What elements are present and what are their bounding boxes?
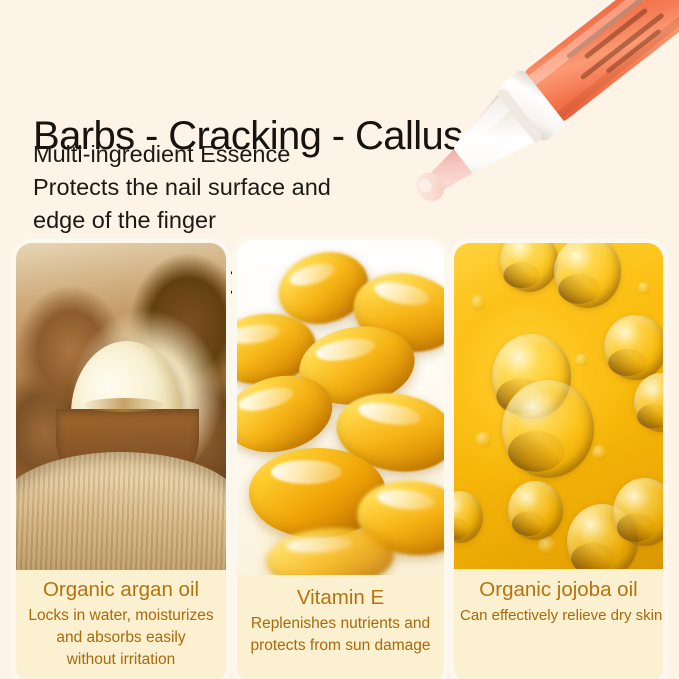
jojoba-oil-photo <box>454 243 663 569</box>
ingredient-card-vitamin-e: Vitamin E Replenishes nutrients and prot… <box>237 240 444 679</box>
card-description-line-2: and absorbs easily <box>22 627 220 649</box>
card-description-line-3: without irritation <box>22 649 220 671</box>
argan-oil-photo <box>16 243 226 570</box>
oil-bubble <box>604 315 663 380</box>
oil-speck <box>471 295 486 311</box>
oil-speck <box>592 445 607 461</box>
oil-speck <box>475 432 492 448</box>
cracked-nut-shape <box>71 341 182 488</box>
card-title: Organic jojoba oil <box>460 576 657 603</box>
oil-bubble <box>500 243 559 292</box>
card-description-line-1: Replenishes nutrients and <box>243 613 438 635</box>
oil-bubble <box>502 380 594 478</box>
oil-bubble <box>454 491 483 543</box>
card-description: Locks in water, moisturizes and absorbs … <box>22 605 220 671</box>
card-title: Vitamin E <box>243 584 438 611</box>
vitamin-e-caption: Vitamin E Replenishes nutrients and prot… <box>237 575 444 657</box>
card-description: Replenishes nutrients and protects from … <box>243 613 438 657</box>
card-description-line-1: Locks in water, moisturizes <box>22 605 220 627</box>
product-marketing-poster: Barbs - Cracking - Callus One time solut… <box>0 0 679 679</box>
jojoba-oil-caption: Organic jojoba oil Can effectively relie… <box>454 569 663 627</box>
card-description: Can effectively relieve dry skin <box>460 605 657 627</box>
oil-bubble <box>508 481 562 540</box>
card-description-line-1: Can effectively relieve dry skin <box>460 605 657 627</box>
gel-capsules-image <box>237 240 444 575</box>
card-title: Organic argan oil <box>22 576 220 603</box>
oil-bubble <box>613 478 663 546</box>
ingredient-card-jojoba-oil: Organic jojoba oil Can effectively relie… <box>454 243 663 679</box>
ingredient-card-argan-oil: Organic argan oil Locks in water, moistu… <box>16 243 226 679</box>
oil-speck <box>575 354 588 367</box>
vitamin-e-photo <box>237 240 444 575</box>
oil-bubble <box>634 373 663 432</box>
macadamia-nuts-image <box>16 243 226 570</box>
ingredient-card-row: Organic argan oil Locks in water, moistu… <box>0 0 679 679</box>
oil-bubble <box>554 243 621 308</box>
oil-speck <box>638 282 651 295</box>
oil-bubbles-image <box>454 243 663 569</box>
card-description-line-2: protects from sun damage <box>243 635 438 657</box>
argan-oil-caption: Organic argan oil Locks in water, moistu… <box>16 570 226 671</box>
